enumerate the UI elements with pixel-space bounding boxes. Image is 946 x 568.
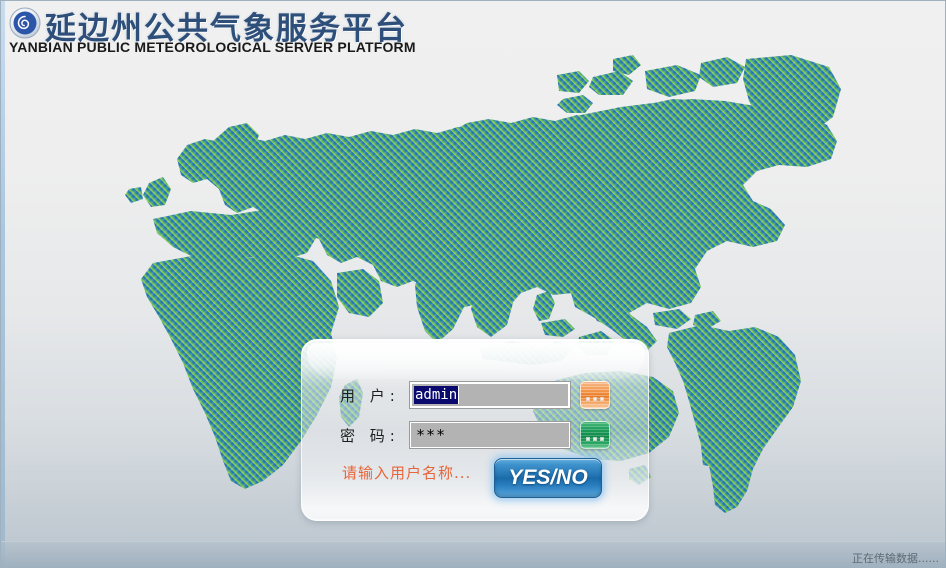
username-row: 用 户: admin xyxy=(302,380,650,410)
password-input[interactable]: *** xyxy=(410,422,570,448)
status-text: 正在传输数据...... xyxy=(852,550,946,567)
password-extra-button[interactable] xyxy=(580,421,610,449)
password-label: 密 码: xyxy=(340,425,410,446)
password-row: 密 码: *** xyxy=(302,420,650,450)
left-edge-stripe xyxy=(1,1,5,568)
login-panel: 用 户: admin 密 码: *** 请输入用户名称... YES/NO xyxy=(301,339,649,521)
username-extra-button[interactable] xyxy=(580,381,610,409)
username-label: 用 户: xyxy=(340,385,410,406)
submit-button-label: YES/NO xyxy=(508,466,587,490)
status-bar: 正在传输数据...... xyxy=(1,541,946,567)
login-screen: 延边州公共气象服务平台 YANBIAN PUBLIC METEOROLOGICA… xyxy=(0,0,946,568)
page-title-english: YANBIAN PUBLIC METEOROLOGICAL SERVER PLA… xyxy=(9,39,416,55)
username-extra-marks xyxy=(585,396,605,401)
error-message: 请输入用户名称... xyxy=(342,462,471,483)
password-extra-marks xyxy=(585,436,605,441)
page-header: 延边州公共气象服务平台 YANBIAN PUBLIC METEOROLOGICA… xyxy=(1,1,946,59)
username-value: admin xyxy=(414,386,459,404)
spiral-cloud-logo-icon xyxy=(9,7,41,39)
password-value: *** xyxy=(413,426,446,444)
username-input[interactable]: admin xyxy=(410,382,570,408)
submit-button[interactable]: YES/NO xyxy=(494,458,602,498)
panel-gloss-highlight xyxy=(307,343,645,379)
